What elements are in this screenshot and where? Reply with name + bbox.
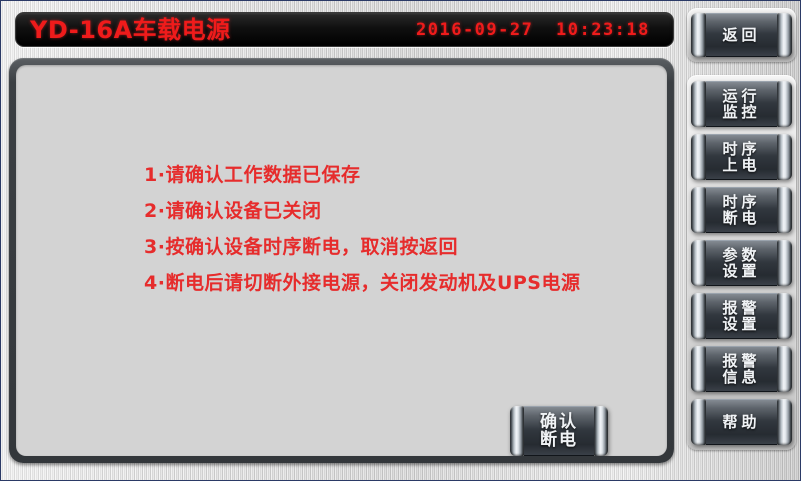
button-cap-right [777, 134, 792, 180]
button-face: 时序 断电 [706, 187, 777, 233]
button-cap-left [691, 134, 706, 180]
list-item: 3·按确认设备时序断电，取消按返回 [144, 229, 664, 265]
confirm-button-label-line2: 断电 [540, 431, 578, 449]
system-date: 2016-09-27 [416, 22, 533, 39]
sidebar-item-label-line2: 监控 [722, 104, 760, 120]
confirm-button-label-line1: 确认 [540, 413, 578, 431]
hmi-screen: YD-16A车载电源 2016-09-27 10:23:18 1·请确认工作数据… [0, 0, 801, 481]
sidebar-item-label-line2: 设置 [722, 316, 760, 332]
button-cap-right [777, 81, 792, 127]
button-cap-right [777, 13, 792, 57]
instruction-list: 1·请确认工作数据已保存 2·请确认设备已关闭 3·按确认设备时序断电，取消按返… [144, 157, 664, 301]
button-cap-left [691, 187, 706, 233]
button-cap-left [691, 293, 706, 339]
confirm-power-off-button[interactable]: 确认 断电 [510, 406, 608, 456]
button-cap-left [510, 406, 524, 456]
button-face: 时序 上电 [706, 134, 777, 180]
sidebar-item-label-line2: 信息 [722, 369, 760, 385]
button-face: 报警 信息 [706, 346, 777, 392]
button-cap-right [777, 293, 792, 339]
list-item: 4·断电后请切断外接电源，关闭发动机及UPS电源 [144, 265, 664, 301]
button-face: 报警 设置 [706, 293, 777, 339]
main-panel: 1·请确认工作数据已保存 2·请确认设备已关闭 3·按确认设备时序断电，取消按返… [9, 58, 674, 463]
sidebar-item-alarm-set[interactable]: 报警 设置 [691, 293, 792, 339]
button-cap-left [691, 399, 706, 445]
button-face: 参数 设置 [706, 240, 777, 286]
button-cap-right [777, 240, 792, 286]
button-cap-right [777, 399, 792, 445]
button-cap-left [691, 346, 706, 392]
button-cap-left [691, 13, 706, 57]
button-cap-right [777, 346, 792, 392]
sidebar-item-label: 返回 [722, 27, 760, 43]
system-time: 10:23:18 [556, 22, 650, 39]
sidebar-item-label-line2: 设置 [722, 263, 760, 279]
button-face: 帮助 [706, 399, 777, 445]
list-item: 1·请确认工作数据已保存 [144, 157, 664, 193]
sidebar-item-alarm-info[interactable]: 报警 信息 [691, 346, 792, 392]
sidebar-item-label-line1: 时序 [722, 141, 760, 157]
sidebar-item-label-line1: 参数 [722, 247, 760, 263]
sidebar-menu-panel: 运行 监控 时序 上电 时序 断电 参数 设置 [687, 75, 796, 450]
sidebar-item-param-set[interactable]: 参数 设置 [691, 240, 792, 286]
sidebar-item-label-line1: 运行 [722, 88, 760, 104]
list-item: 2·请确认设备已关闭 [144, 193, 664, 229]
button-face: 返回 [706, 13, 777, 57]
sidebar-item-label-line2: 上电 [722, 157, 760, 173]
button-cap-left [691, 81, 706, 127]
sidebar-item-label-line1: 报警 [722, 300, 760, 316]
page-title: YD-16A车载电源 [30, 18, 231, 42]
sidebar-item-label-line1: 时序 [722, 194, 760, 210]
title-bar: YD-16A车载电源 2016-09-27 10:23:18 [15, 12, 674, 47]
sidebar-item-seq-power-off[interactable]: 时序 断电 [691, 187, 792, 233]
button-cap-right [777, 187, 792, 233]
sidebar-item-run-monitor[interactable]: 运行 监控 [691, 81, 792, 127]
sidebar-item-help[interactable]: 帮助 [691, 399, 792, 445]
button-cap-right [594, 406, 608, 456]
sidebar-item-label: 帮助 [722, 414, 760, 430]
sidebar-item-seq-power-on[interactable]: 时序 上电 [691, 134, 792, 180]
button-cap-left [691, 240, 706, 286]
main-panel-inner: 1·请确认工作数据已保存 2·请确认设备已关闭 3·按确认设备时序断电，取消按返… [16, 65, 667, 456]
sidebar-item-label-line1: 报警 [722, 353, 760, 369]
sidebar-item-return[interactable]: 返回 [691, 13, 792, 57]
button-face: 确认 断电 [524, 406, 594, 456]
sidebar-top-panel: 返回 [687, 8, 796, 62]
button-face: 运行 监控 [706, 81, 777, 127]
sidebar-item-label-line2: 断电 [722, 210, 760, 226]
